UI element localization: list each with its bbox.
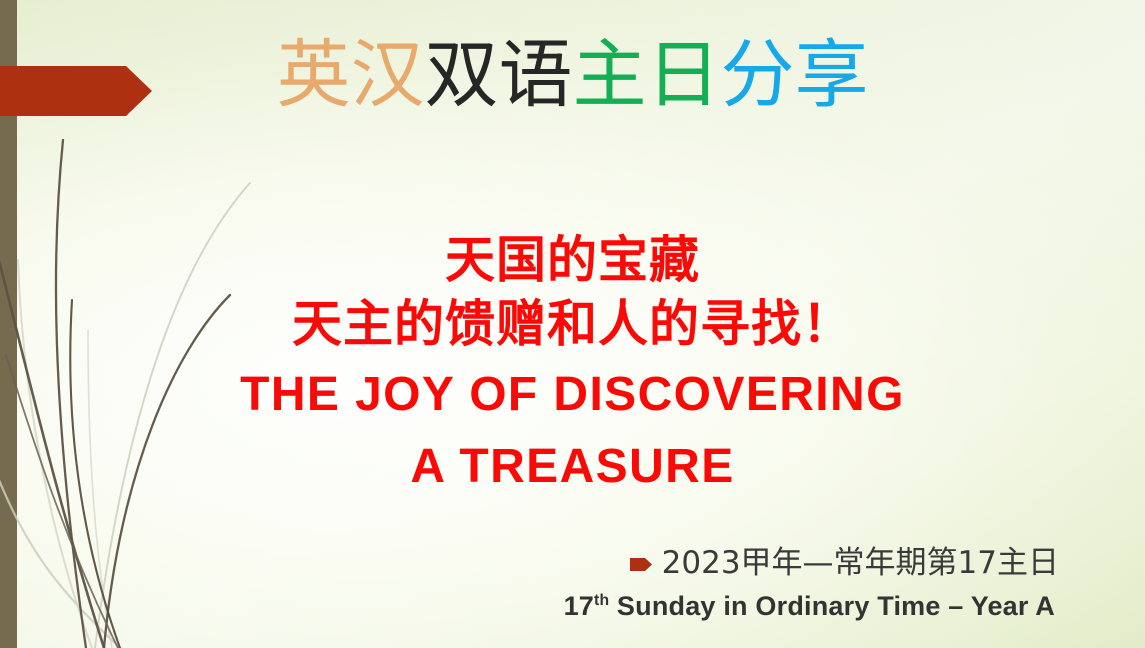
- heading-segment-4: 分享: [721, 32, 869, 118]
- english-title-line-1: THE JOY OF DISCOVERING: [0, 362, 1145, 428]
- footer-english-ordinal: 17: [564, 591, 594, 621]
- slide-footer: 2023甲年—常年期第17主日 17th Sunday in Ordinary …: [564, 545, 1059, 622]
- slide-heading: 英汉双语主日分享: [0, 33, 1145, 118]
- english-title-line-2: A TREASURE: [0, 434, 1145, 500]
- footer-english-superscript: th: [594, 592, 609, 609]
- arrow-bullet-icon: [630, 558, 652, 571]
- chinese-title-line-2: 天主的馈赠和人的寻找！: [0, 292, 1145, 356]
- presentation-slide: 英汉双语主日分享 天国的宝藏 天主的馈赠和人的寻找！ THE JOY OF DI…: [0, 0, 1145, 648]
- heading-segment-2: 双语: [425, 32, 573, 118]
- footer-chinese-text: 2023甲年—常年期第17主日: [662, 545, 1059, 583]
- main-title-block: 天国的宝藏 天主的馈赠和人的寻找！ THE JOY OF DISCOVERING…: [0, 228, 1145, 500]
- footer-chinese-row: 2023甲年—常年期第17主日: [564, 545, 1059, 583]
- footer-english-rest: Sunday in Ordinary Time – Year A: [609, 591, 1055, 621]
- chinese-title-line-1: 天国的宝藏: [0, 228, 1145, 292]
- heading-segment-1: 英汉: [277, 32, 425, 118]
- heading-segment-3: 主日: [573, 32, 721, 118]
- footer-english-row: 17th Sunday in Ordinary Time – Year A: [564, 591, 1055, 622]
